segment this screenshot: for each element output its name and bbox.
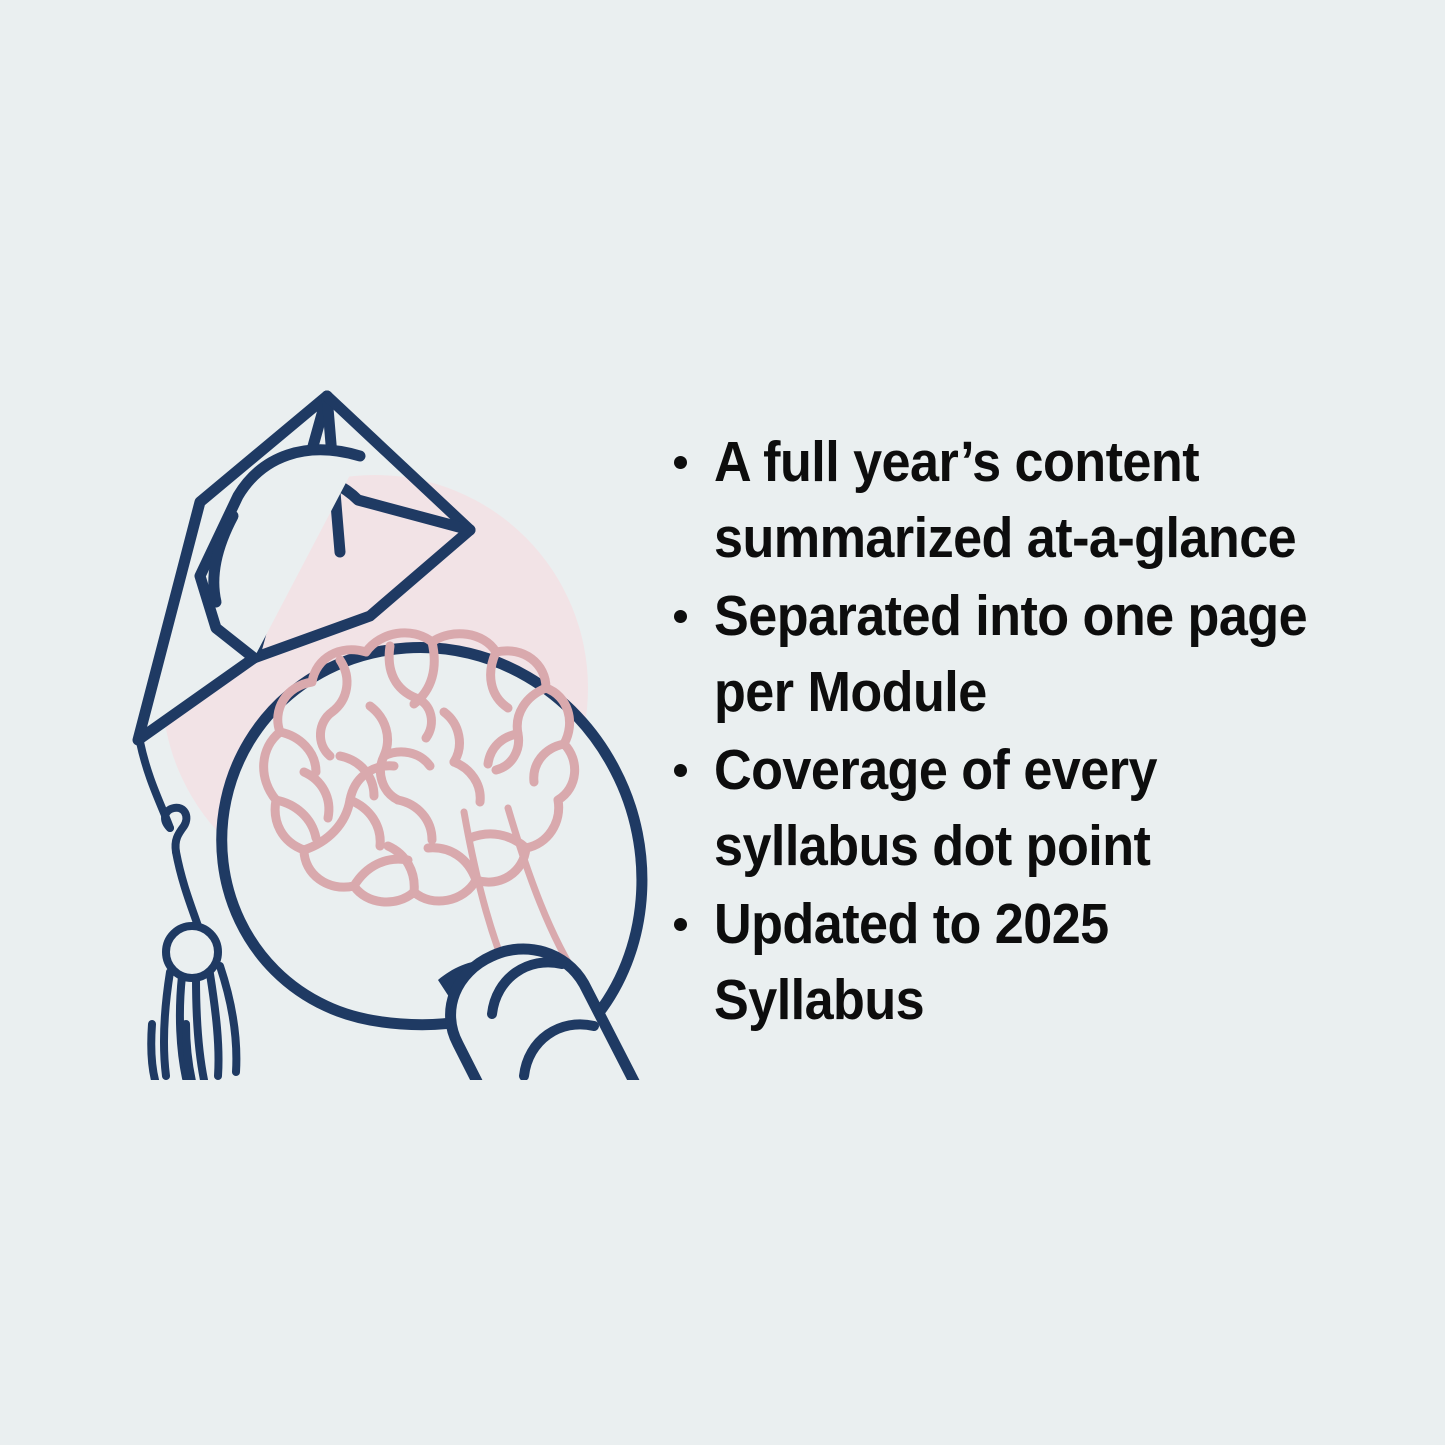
feature-text: Updated to 2025 Syllabus — [714, 886, 1316, 1038]
list-item: Separated into one page per Module — [662, 578, 1372, 730]
graduation-cap-brain-lightbulb-illustration — [40, 360, 660, 1080]
feature-text: A full year’s content summarized at-a-gl… — [714, 424, 1316, 576]
list-item: Updated to 2025 Syllabus — [662, 886, 1372, 1038]
list-item: A full year’s content summarized at-a-gl… — [662, 424, 1372, 576]
feature-text: Separated into one page per Module — [714, 578, 1316, 730]
bullet-dot-icon — [674, 456, 687, 469]
product-feature-graphic: A full year’s content summarized at-a-gl… — [0, 0, 1445, 1445]
illustration-svg — [40, 360, 660, 1080]
bullet-dot-icon — [674, 764, 687, 777]
bullet-dot-icon — [674, 610, 687, 623]
list-item: Coverage of every syllabus dot point — [662, 732, 1372, 884]
feature-text: Coverage of every syllabus dot point — [714, 732, 1316, 884]
feature-bullet-list: A full year’s content summarized at-a-gl… — [662, 424, 1372, 1040]
bullet-dot-icon — [674, 918, 687, 931]
